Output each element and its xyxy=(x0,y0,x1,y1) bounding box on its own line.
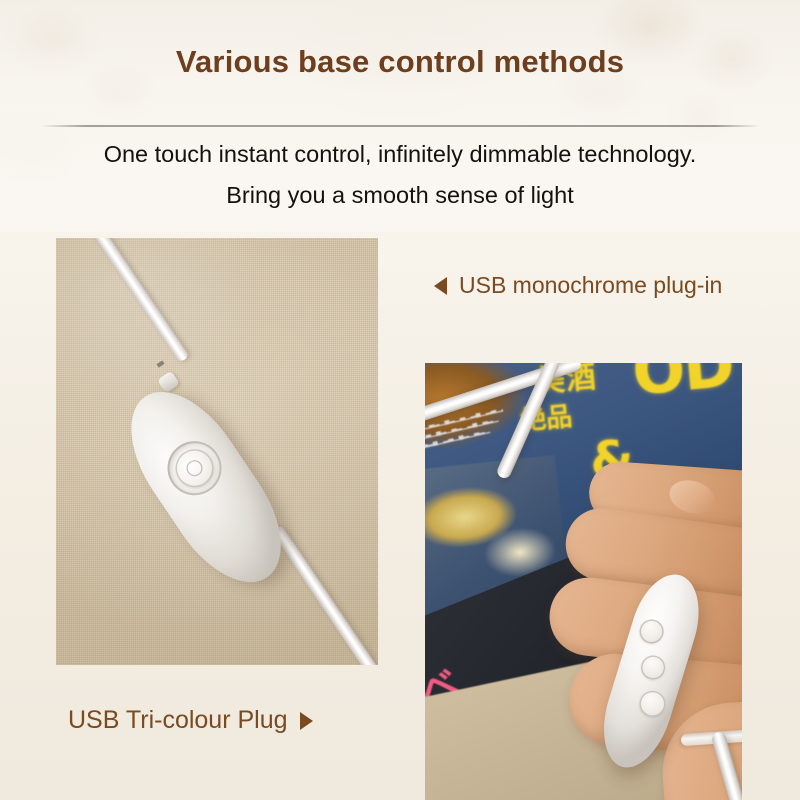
right-triangle-icon xyxy=(300,712,313,730)
controller-button-1 xyxy=(637,616,667,646)
subtitle-line-1: One touch instant control, infinitely di… xyxy=(0,141,800,168)
callout-usb-tri-colour-label: USB Tri-colour Plug xyxy=(68,706,288,735)
usb-tri-colour-plug-photo xyxy=(56,238,378,665)
controller-button-3 xyxy=(636,688,668,720)
product-feature-page: Various base control methods One touch i… xyxy=(0,0,800,800)
left-triangle-icon xyxy=(434,277,447,295)
subtitle-line-2: Bring you a smooth sense of light xyxy=(0,182,800,209)
usb-monochrome-plug-in-photo: ▁▂▁▃▂▁▄▂▁▃▁▂▄▁▂▃▁▂▂▁▃▁▄▂▁▃▂▁▂▄▁▃▂▁▁▃▂▄▁▂… xyxy=(425,363,742,800)
controller-button-2 xyxy=(638,652,668,682)
callout-usb-monochrome: USB monochrome plug-in xyxy=(434,272,722,299)
page-title: Various base control methods xyxy=(0,44,800,80)
hand-holding-controller xyxy=(543,463,742,800)
title-divider xyxy=(42,125,758,127)
dimmer-ring xyxy=(157,431,232,506)
dimmer-dial-button xyxy=(168,442,221,495)
callout-usb-monochrome-label: USB monochrome plug-in xyxy=(459,272,722,299)
magazine-latin-text: OD xyxy=(629,363,735,409)
callout-usb-tri-colour: USB Tri-colour Plug xyxy=(68,706,313,735)
